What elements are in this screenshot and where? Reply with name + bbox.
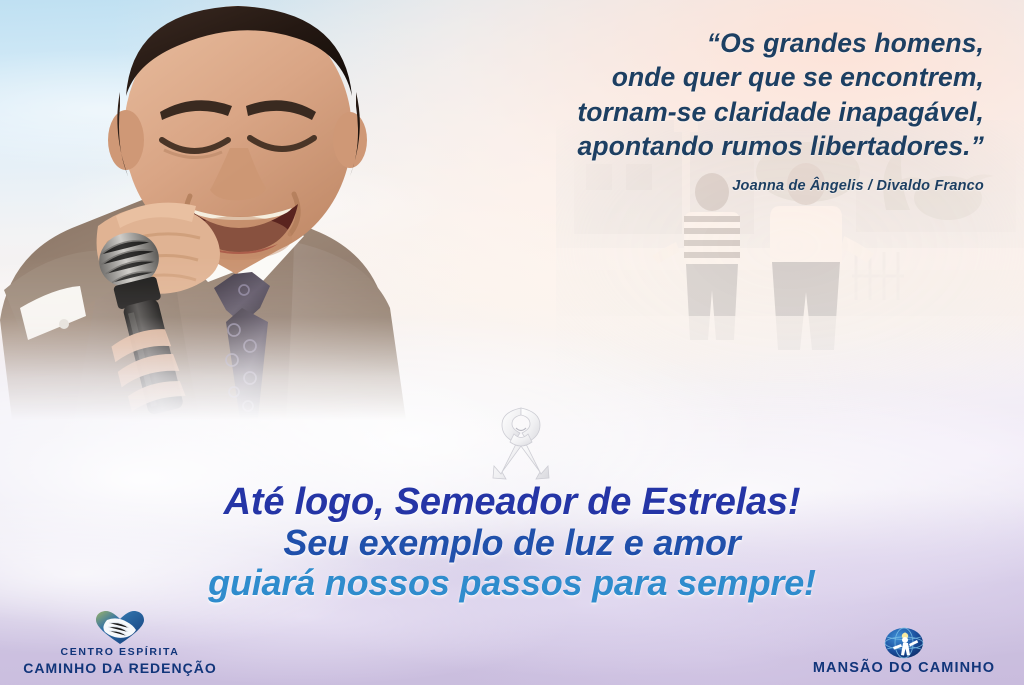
headline-line-1: Até logo, Semeador de Estrelas! bbox=[0, 482, 1024, 522]
logo-right-line-2: MANSÃO DO CAMINHO bbox=[794, 659, 1014, 677]
headline-line-3: guiará nossos passos para sempre! bbox=[0, 564, 1024, 602]
headline-line-2: Seu exemplo de luz e amor bbox=[0, 524, 1024, 562]
quote-attribution: Joanna de Ângelis / Divaldo Franco bbox=[424, 177, 984, 196]
globe-flame-figure-icon bbox=[794, 623, 1014, 659]
logo-mansao-do-caminho: MANSÃO DO CAMINHO bbox=[794, 623, 1014, 677]
quote-line-4: apontando rumos libertadores.” bbox=[424, 129, 984, 163]
logo-left-line-1: CENTRO ESPÍRITA bbox=[14, 646, 226, 659]
white-ribbon-icon bbox=[492, 404, 550, 486]
quote-block: “Os grandes homens, onde quer que se enc… bbox=[424, 26, 984, 196]
heart-hands-icon bbox=[14, 610, 226, 646]
logo-centro-espirita: CENTRO ESPÍRITA CAMINHO DA REDENÇÃO bbox=[14, 610, 226, 677]
memorial-poster: “Os grandes homens, onde quer que se enc… bbox=[0, 0, 1024, 685]
logo-left-line-2: CAMINHO DA REDENÇÃO bbox=[14, 660, 226, 678]
quote-line-3: tornam-se claridade inapagável, bbox=[424, 95, 984, 129]
quote-line-2: onde quer que se encontrem, bbox=[424, 60, 984, 94]
quote-line-1: “Os grandes homens, bbox=[424, 26, 984, 60]
headline-block: Até logo, Semeador de Estrelas! Seu exem… bbox=[0, 482, 1024, 603]
